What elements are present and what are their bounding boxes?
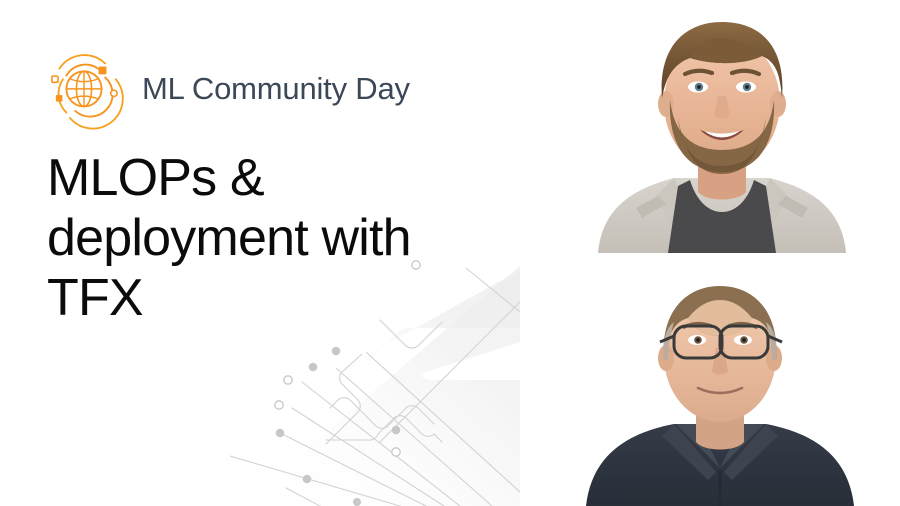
speaker-portrait-column (540, 0, 900, 506)
logo-node-filled-square-left (56, 95, 63, 102)
slide-title-line-1: MLOPs & (47, 148, 477, 208)
circuit-node-filled (276, 347, 401, 506)
brand-wordmark: ML Community Day (142, 73, 410, 104)
globe-glyph (66, 71, 101, 106)
slide-title-line-2: deployment with (47, 208, 477, 268)
speaker-portrait-bearded-man (540, 0, 900, 253)
brand-logo-lockup: ML Community Day (40, 44, 410, 132)
presentation-slide: ML Community Day MLOPs & deployment with… (0, 0, 900, 506)
slide-title-line-3: TFX (47, 268, 477, 328)
logo-node-hollow-circle (111, 90, 117, 96)
speaker-photo-bottom (540, 256, 900, 506)
orbiting-globe-icon (40, 44, 128, 132)
slide-title: MLOPs & deployment with TFX (47, 148, 477, 328)
speaker-photo-top (540, 0, 900, 253)
speaker-portrait-man-with-glasses (540, 256, 900, 506)
logo-node-hollow-square (52, 76, 58, 82)
logo-node-filled-square-right (99, 66, 107, 74)
